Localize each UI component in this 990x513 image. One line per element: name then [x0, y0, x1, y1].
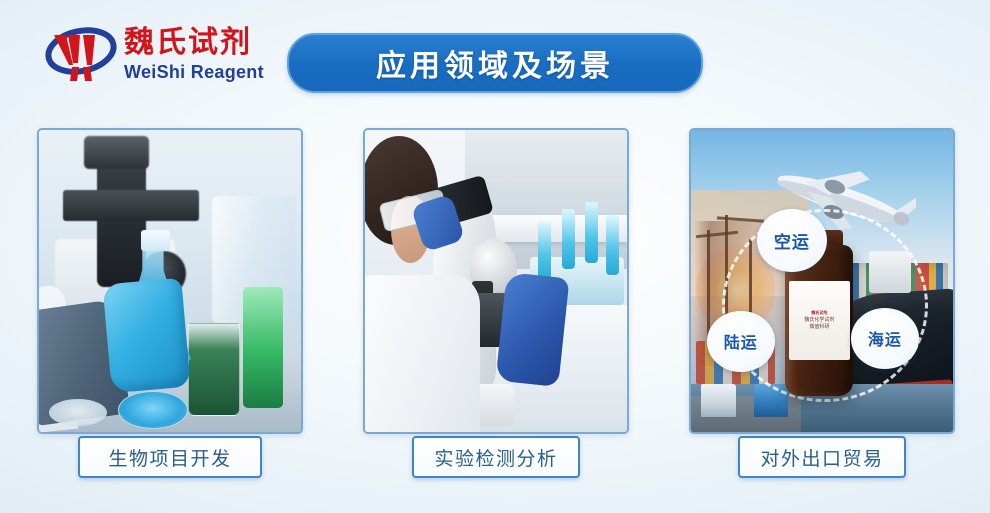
weishi-w-logo-icon: [42, 23, 120, 85]
badge-land-freight: 陆运: [707, 311, 775, 371]
badge-air-freight: 空运: [757, 209, 828, 272]
slide-root: 魏氏试剂 WeiShi Reagent 应用领域及场景: [0, 0, 990, 513]
caption-export-trade: 对外出口贸易: [738, 436, 906, 478]
caption-experiment-testing-analysis: 实验检测分析: [412, 436, 580, 478]
bottle-label-logo: 魏氏试剂: [811, 310, 827, 316]
page-title-banner: 应用领域及场景: [287, 33, 703, 93]
badge-sea-label: 海运: [868, 326, 902, 350]
badge-sea-freight: 海运: [851, 308, 919, 368]
bottle-label-line2: 做值科研: [809, 324, 829, 330]
logistics-collage-photo: 魏氏试剂 魏氏化学试剂 做值科研 空运 陆运 海运: [691, 130, 953, 432]
caption-label: 生物项目开发: [108, 444, 231, 471]
badge-air-label: 空运: [774, 228, 810, 253]
badge-land-label: 陆运: [724, 329, 758, 353]
bottle-label-line1: 魏氏化学试剂: [804, 317, 834, 323]
brand-logo: 魏氏试剂 WeiShi Reagent: [42, 20, 282, 88]
caption-label: 实验检测分析: [434, 444, 557, 471]
card-bio-project-development[interactable]: [37, 128, 303, 434]
caption-label: 对外出口贸易: [760, 444, 883, 471]
reagent-bottle-label: 魏氏试剂 魏氏化学试剂 做值科研: [789, 281, 849, 360]
caption-bio-project-development: 生物项目开发: [78, 436, 262, 478]
scientist-microscope-photo: [365, 130, 627, 432]
card-experiment-testing-analysis[interactable]: [363, 128, 629, 434]
card-export-trade[interactable]: 魏氏试剂 魏氏化学试剂 做值科研 空运 陆运 海运: [689, 128, 955, 434]
page-title: 应用领域及场景: [376, 41, 614, 85]
lab-flask-microscope-photo: [39, 130, 301, 432]
brand-name-en: WeiShi Reagent: [124, 63, 264, 81]
brand-logo-text: 魏氏试剂 WeiShi Reagent: [124, 28, 264, 81]
brand-name-cn: 魏氏试剂: [124, 28, 264, 58]
